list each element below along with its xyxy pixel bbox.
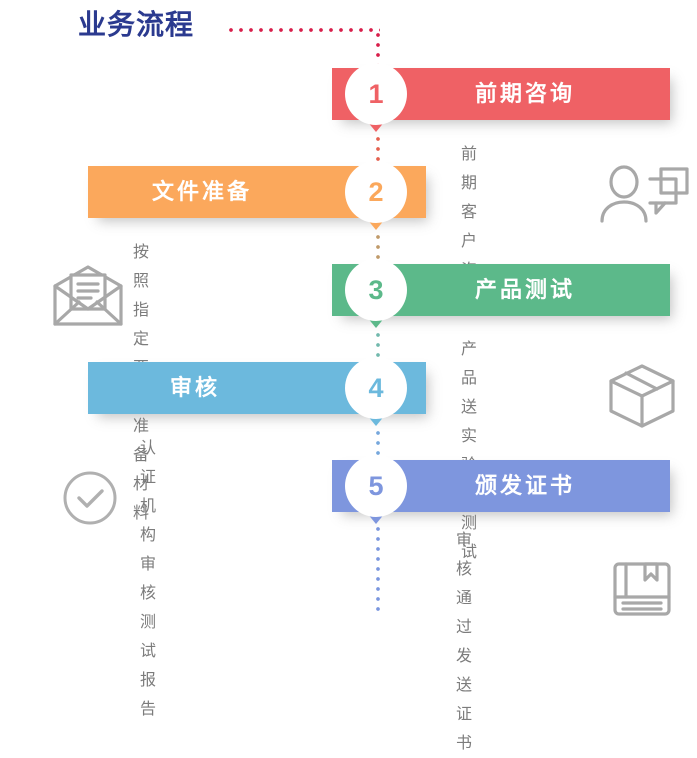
step-3-marker: 3 xyxy=(345,259,407,321)
step-5-marker: 5 xyxy=(345,455,407,517)
check-circle-icon xyxy=(62,470,118,526)
step-2-marker: 2 xyxy=(345,161,407,223)
step-1-number: 1 xyxy=(345,63,407,125)
business-process-flow-diagram: 业务流程 前期咨询 1 前期客户咨询 文件准备 2 按照指定要求 准备材料 xyxy=(0,0,697,614)
connector-top-horizontal xyxy=(226,28,380,32)
step-3-number: 3 xyxy=(345,259,407,321)
page-title: 业务流程 xyxy=(78,3,194,43)
step-1-title: 前期咨询 xyxy=(475,68,575,120)
package-box-icon xyxy=(608,363,676,429)
step-2-title: 文件准备 xyxy=(152,166,252,218)
connector-step5-tail xyxy=(376,524,380,612)
step-1-marker: 1 xyxy=(345,63,407,125)
certificate-book-icon xyxy=(612,561,672,617)
step-4-number: 4 xyxy=(345,357,407,419)
envelope-letter-icon xyxy=(51,264,125,328)
step-5-number: 5 xyxy=(345,455,407,517)
step-4-title: 审核 xyxy=(170,362,220,414)
step-2-number: 2 xyxy=(345,161,407,223)
step-4-marker: 4 xyxy=(345,357,407,419)
person-chat-icon xyxy=(598,163,690,225)
step-5-title: 颁发证书 xyxy=(475,460,575,512)
step-5-description: 审核通过发送 证书 xyxy=(456,526,472,758)
step-3-title: 产品测试 xyxy=(475,264,575,316)
step-4-description: 认证机构审核 测试报告 xyxy=(140,434,156,724)
